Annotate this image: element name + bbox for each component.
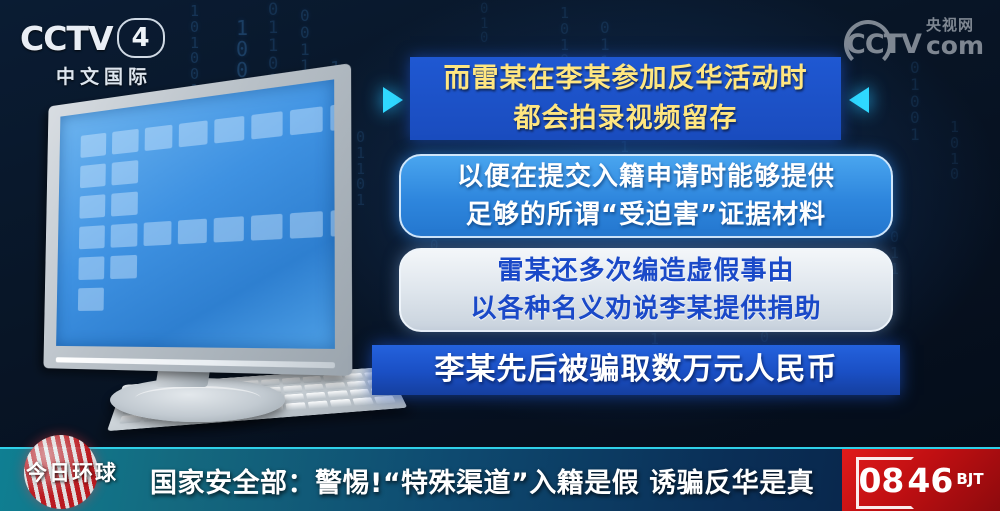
news-headline: 国家安全部：警惕!“特殊渠道”入籍是假 诱骗反华是真 xyxy=(150,449,814,511)
screen-block xyxy=(214,216,244,242)
screen-block xyxy=(179,120,208,147)
screen-block xyxy=(330,101,335,131)
screen-block xyxy=(144,221,172,246)
binary-digit-column: 1 0 1 0 xyxy=(950,120,960,183)
monitor-bezel xyxy=(43,63,352,376)
cctv-wordmark: CCTV xyxy=(20,22,113,55)
screen-block xyxy=(110,255,137,279)
broadcast-screen: 1 0 1 0 0 1 1 01 0 0 1 0 10 1 1 0 0 1 0 … xyxy=(0,0,1000,511)
channel-subtitle: 中文国际 xyxy=(20,62,188,89)
screen-block xyxy=(78,256,104,280)
screen-block xyxy=(251,111,282,139)
screen-block xyxy=(331,208,335,236)
monitor-screen xyxy=(56,79,335,349)
screen-block xyxy=(111,192,138,217)
watermark-com-text: com xyxy=(926,33,984,58)
caption-line: 足够的所谓“受迫害”证据材料 xyxy=(466,196,826,234)
caption-box-4: 李某先后被骗取数万元人民币 xyxy=(372,345,900,395)
screen-block xyxy=(145,125,173,151)
caption-line: 李某先后被骗取数万元人民币 xyxy=(435,348,838,392)
screen-block xyxy=(111,223,138,248)
screen-block xyxy=(78,288,104,311)
clock-timezone: BJT xyxy=(956,472,983,489)
screen-block xyxy=(112,129,139,155)
screen-block xyxy=(111,160,138,185)
caption-line: 都会拍录视频留存 xyxy=(514,99,738,139)
screen-block xyxy=(79,194,105,218)
screen-block-row xyxy=(79,192,137,219)
caption-box-2: 以便在提交入籍申请时能够提供 足够的所谓“受迫害”证据材料 xyxy=(399,154,893,238)
cctv4-channel-logo: CCTV 4 中文国际 xyxy=(20,18,188,86)
binary-digit-column: 0 1 0 xyxy=(480,2,489,46)
screen-block-row xyxy=(78,288,104,311)
watermark-right-stack: 央视网 com xyxy=(926,18,984,58)
screen-block-row xyxy=(80,160,138,188)
caption-box-1: 而雷某在李某参加反华活动时 都会拍录视频留存 xyxy=(410,57,841,140)
caption-line: 以各种名义劝说李某提供捐助 xyxy=(470,290,821,328)
caption-box-3: 雷某还多次编造虚假事由 以各种名义劝说李某提供捐助 xyxy=(399,248,893,332)
screen-block xyxy=(290,211,323,239)
program-logo: 今日环球 xyxy=(8,433,136,511)
clock-badge: 08 46 BJT xyxy=(842,449,1000,511)
computer-illustration xyxy=(18,95,378,435)
monitor-chin xyxy=(56,357,335,368)
caption-line: 雷某还多次编造虚假事由 xyxy=(497,252,794,290)
program-name: 今日环球 xyxy=(26,457,118,487)
clock-hours: 08 xyxy=(858,464,904,497)
screen-block xyxy=(251,214,283,241)
screen-block xyxy=(214,116,244,144)
screen-block xyxy=(80,133,106,158)
cctv-logo-row: CCTV 4 xyxy=(20,18,188,58)
channel-number: 4 xyxy=(117,18,165,58)
screen-block-row xyxy=(80,96,334,158)
clock-minutes: 46 xyxy=(907,464,953,497)
lower-third-bar: 今日环球 国家安全部：警惕!“特殊渠道”入籍是假 诱骗反华是真 08 46 BJ… xyxy=(0,447,1000,511)
caption-line: 而雷某在李某参加反华活动时 xyxy=(444,59,808,99)
play-triangle-left-icon xyxy=(849,87,869,113)
watermark-ring-icon xyxy=(844,20,892,68)
play-triangle-right-icon xyxy=(383,87,403,113)
binary-digit-column: 0 1 0 0 1 xyxy=(910,60,921,144)
screen-block-row xyxy=(78,255,137,280)
screen-block xyxy=(79,225,105,249)
cctv-com-watermark: CCTV 央视网 com xyxy=(846,18,984,58)
screen-block xyxy=(80,163,106,188)
caption-line: 以便在提交入籍申请时能够提供 xyxy=(457,158,835,196)
screen-block xyxy=(178,219,207,245)
screen-block xyxy=(290,106,323,135)
